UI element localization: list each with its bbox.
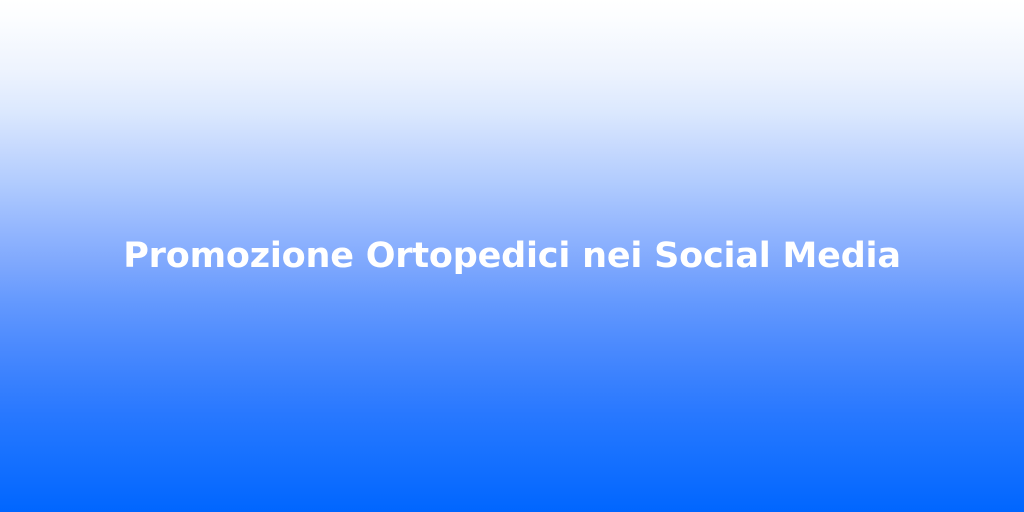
page-title: Promozione Ortopedici nei Social Media	[91, 236, 933, 276]
hero-banner: Promozione Ortopedici nei Social Media	[0, 0, 1024, 512]
